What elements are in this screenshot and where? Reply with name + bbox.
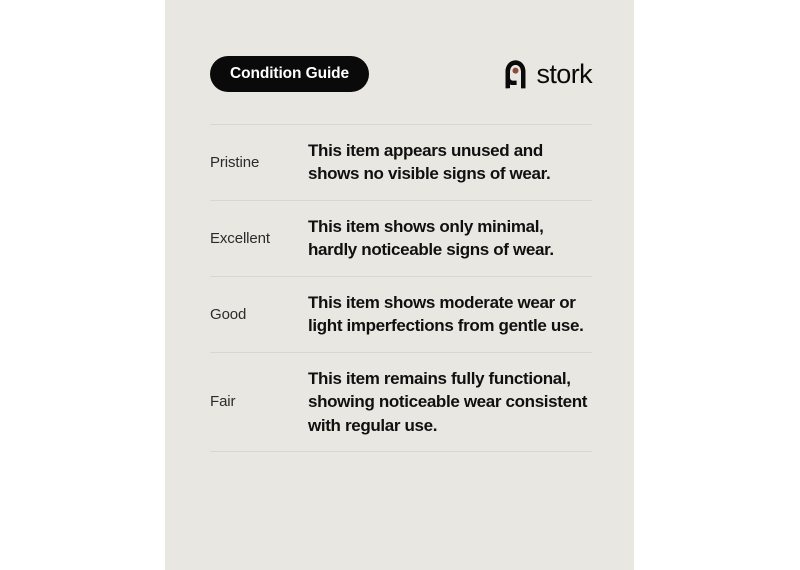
table-divider-bottom bbox=[210, 451, 592, 452]
condition-description: This item shows moderate wear or light i… bbox=[308, 291, 592, 338]
table-row: Pristine This item appears unused and sh… bbox=[210, 125, 592, 200]
table-row: Fair This item remains fully functional,… bbox=[210, 353, 592, 451]
stork-arch-logo-icon bbox=[503, 59, 528, 89]
condition-guide-card: Condition Guide stork Pristine This item… bbox=[165, 0, 634, 570]
brand-lockup: stork bbox=[503, 56, 592, 92]
condition-table: Pristine This item appears unused and sh… bbox=[210, 124, 592, 452]
condition-label: Good bbox=[210, 305, 308, 325]
table-row: Excellent This item shows only minimal, … bbox=[210, 201, 592, 276]
condition-label: Excellent bbox=[210, 229, 308, 249]
brand-wordmark: stork bbox=[536, 61, 592, 88]
page-root: Condition Guide stork Pristine This item… bbox=[0, 0, 800, 570]
table-row: Good This item shows moderate wear or li… bbox=[210, 277, 592, 352]
condition-description: This item appears unused and shows no vi… bbox=[308, 139, 592, 186]
condition-label: Pristine bbox=[210, 153, 308, 173]
condition-label: Fair bbox=[210, 392, 308, 412]
condition-description: This item shows only minimal, hardly not… bbox=[308, 215, 592, 262]
condition-guide-badge: Condition Guide bbox=[210, 56, 369, 92]
card-header: Condition Guide stork bbox=[210, 56, 592, 92]
condition-description: This item remains fully functional, show… bbox=[308, 367, 592, 437]
